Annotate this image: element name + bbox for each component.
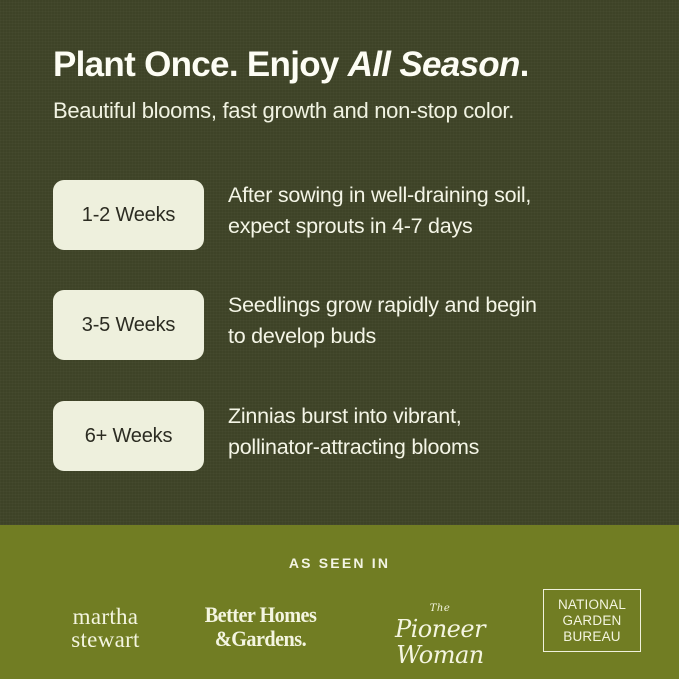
logo-better-homes-and-gardens: Better Homes &Gardens.	[185, 603, 337, 651]
timeline-row: 1-2 Weeks After sowing in well-draining …	[53, 180, 653, 250]
timeline-description: Seedlings grow rapidly and begin to deve…	[228, 290, 658, 352]
press-band: AS SEEN IN martha stewart Better Homes &…	[0, 525, 679, 679]
logo-martha-stewart-line-2: stewart	[38, 628, 173, 651]
page-title: Plant Once. Enjoy All Season.	[53, 44, 653, 86]
timeline-badge-label: 6+ Weeks	[85, 425, 173, 448]
headline-part-1: Plant Once. Enjoy	[53, 45, 348, 84]
logo-pioneer-line-2: Pioneer Woman	[355, 616, 525, 668]
timeline-description-line-1: Seedlings grow rapidly and begin	[228, 290, 658, 321]
timeline-badge-label: 3-5 Weeks	[82, 314, 175, 337]
timeline-description: After sowing in well-draining soil, expe…	[228, 180, 658, 242]
poster-canvas: Plant Once. Enjoy All Season. Beautiful …	[0, 0, 679, 679]
timeline-badge-label: 1-2 Weeks	[82, 204, 175, 227]
timeline-row: 3-5 Weeks Seedlings grow rapidly and beg…	[53, 290, 653, 360]
timeline-description-line-2: expect sprouts in 4-7 days	[228, 211, 658, 242]
logo-ngb-line-3: BUREAU	[563, 629, 620, 645]
timeline-description-line-2: pollinator-attracting blooms	[228, 432, 658, 463]
timeline-description: Zinnias burst into vibrant, pollinator-a…	[228, 401, 658, 463]
logo-martha-stewart: martha stewart	[38, 605, 173, 651]
as-seen-in-label: AS SEEN IN	[0, 555, 679, 571]
logo-martha-stewart-line-1: martha	[73, 604, 139, 629]
timeline-badge: 6+ Weeks	[53, 401, 204, 471]
timeline-description-line-1: After sowing in well-draining soil,	[228, 180, 658, 211]
logo-bhg-line-1: Better Homes	[205, 602, 317, 627]
logo-ngb-line-1: NATIONAL	[558, 597, 626, 613]
headline-part-italic: All Season	[348, 45, 520, 84]
page-subtitle: Beautiful blooms, fast growth and non-st…	[53, 96, 663, 126]
headline-part-period: .	[520, 45, 529, 84]
timeline-row: 6+ Weeks Zinnias burst into vibrant, pol…	[53, 401, 653, 471]
timeline-badge: 1-2 Weeks	[53, 180, 204, 250]
logo-national-garden-bureau: NATIONAL GARDEN BUREAU	[543, 589, 641, 652]
logo-ngb-line-2: GARDEN	[563, 613, 622, 629]
logo-bhg-line-2: &Gardens.	[185, 627, 337, 651]
timeline-description-line-1: Zinnias burst into vibrant,	[228, 401, 658, 432]
press-logo-row: martha stewart Better Homes &Gardens. Th…	[0, 583, 679, 663]
timeline-description-line-2: to develop buds	[228, 321, 658, 352]
logo-the-pioneer-woman: The Pioneer Woman	[355, 601, 525, 668]
timeline-badge: 3-5 Weeks	[53, 290, 204, 360]
